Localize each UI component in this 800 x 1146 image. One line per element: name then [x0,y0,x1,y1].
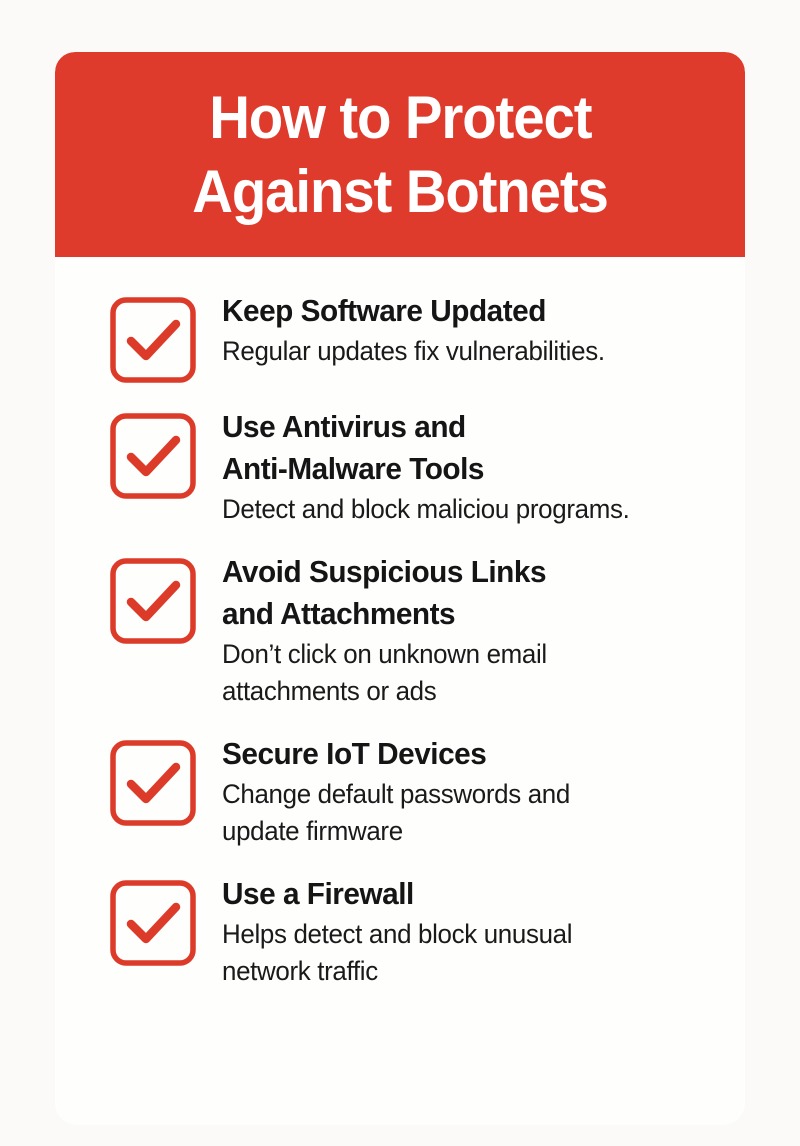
checkbox-checked-icon [110,297,196,383]
page-title-line-1: How to Protect [209,81,591,155]
list-item-text: Use Antivirus and Anti-Malware Tools Det… [222,407,717,528]
list-item-text: Avoid Suspicious Links and Attachments D… [222,552,717,710]
list-item-description-line: Helps detect and block unusual [222,916,697,953]
list-item: Use a Firewall Helps detect and block un… [55,874,745,990]
checkbox-checked-icon [110,558,196,644]
list-item-description-line: attachments or ads [222,673,697,710]
list-item-description-line: Change default passwords and [222,776,697,813]
list-item-title: Use a Firewall [222,874,697,914]
list-item-text: Secure IoT Devices Change default passwo… [222,734,717,850]
page-title-line-2: Against Botnets [192,155,608,229]
infographic-root: How to Protect Against Botnets Keep Soft… [0,0,800,1146]
list-item-title: Secure IoT Devices [222,734,697,774]
list-item-description-line: network traffic [222,953,697,990]
list-item: Use Antivirus and Anti-Malware Tools Det… [55,407,745,528]
checkbox-checked-icon [110,880,196,966]
list-item-title: Keep Software Updated [222,291,697,331]
infographic-card: How to Protect Against Botnets Keep Soft… [55,52,745,1125]
list-item: Avoid Suspicious Links and Attachments D… [55,552,745,710]
checkbox-checked-icon [110,413,196,499]
list-item-description-line: Don’t click on unknown email [222,636,697,673]
list-item: Keep Software Updated Regular updates fi… [55,291,745,383]
list-item-description-line: update firmware [222,813,697,850]
list-item-description-line: Detect and block maliciou programs. [222,491,697,528]
list-item-title-line: Use Antivirus and [222,407,697,447]
list-item-text: Use a Firewall Helps detect and block un… [222,874,717,990]
checkbox-checked-icon [110,740,196,826]
list-item-text: Keep Software Updated Regular updates fi… [222,291,717,370]
tips-list: Keep Software Updated Regular updates fi… [55,257,745,990]
list-item-title-line: Avoid Suspicious Links [222,552,697,592]
list-item-description-line: Regular updates fix vulnerabilities. [222,333,697,370]
header-banner: How to Protect Against Botnets [55,52,745,257]
list-item-title-line: and Attachments [222,594,697,634]
list-item-title-line: Anti-Malware Tools [222,449,697,489]
list-item: Secure IoT Devices Change default passwo… [55,734,745,850]
